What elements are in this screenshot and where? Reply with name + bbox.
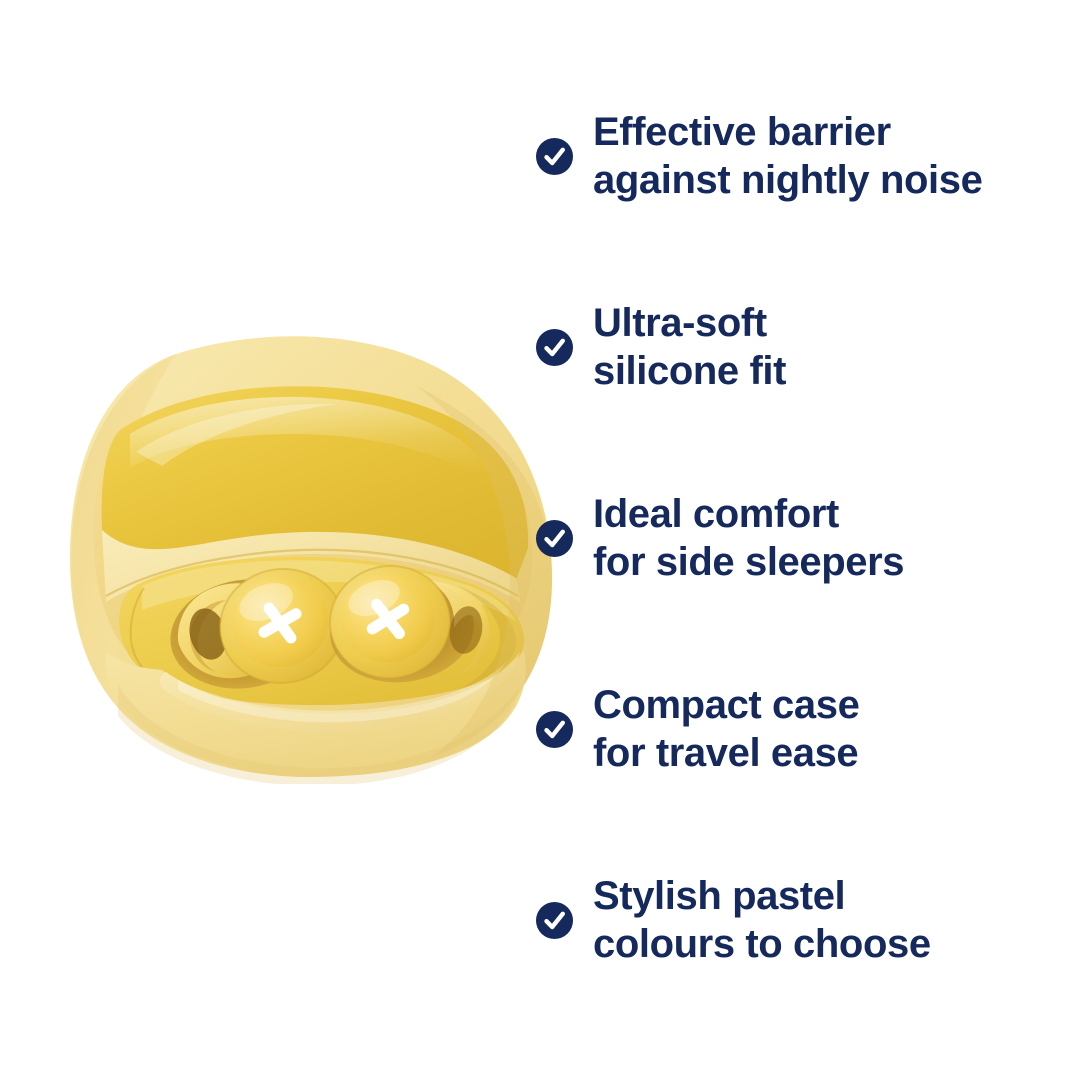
feature-text: Stylish pastel colours to choose <box>593 872 931 968</box>
feature-text: Effective barrier against nightly noise <box>593 108 982 204</box>
feature-text: Ideal comfort for side sleepers <box>593 490 904 586</box>
promo-canvas: Effective barrier against nightly noise … <box>0 0 1080 1080</box>
product-image <box>58 334 568 784</box>
feature-item-2: Ultra-soft silicone fit <box>536 287 1066 407</box>
check-circle-icon <box>536 711 573 748</box>
feature-item-1: Effective barrier against nightly noise <box>536 96 1066 216</box>
check-circle-icon <box>536 329 573 366</box>
check-circle-icon <box>536 520 573 557</box>
check-circle-icon <box>536 138 573 175</box>
check-circle-icon <box>536 902 573 939</box>
feature-text: Compact case for travel ease <box>593 681 859 777</box>
feature-item-4: Compact case for travel ease <box>536 669 1066 789</box>
feature-list: Effective barrier against nightly noise … <box>536 96 1066 986</box>
feature-item-5: Stylish pastel colours to choose <box>536 860 1066 980</box>
feature-item-3: Ideal comfort for side sleepers <box>536 478 1066 598</box>
feature-text: Ultra-soft silicone fit <box>593 299 786 395</box>
